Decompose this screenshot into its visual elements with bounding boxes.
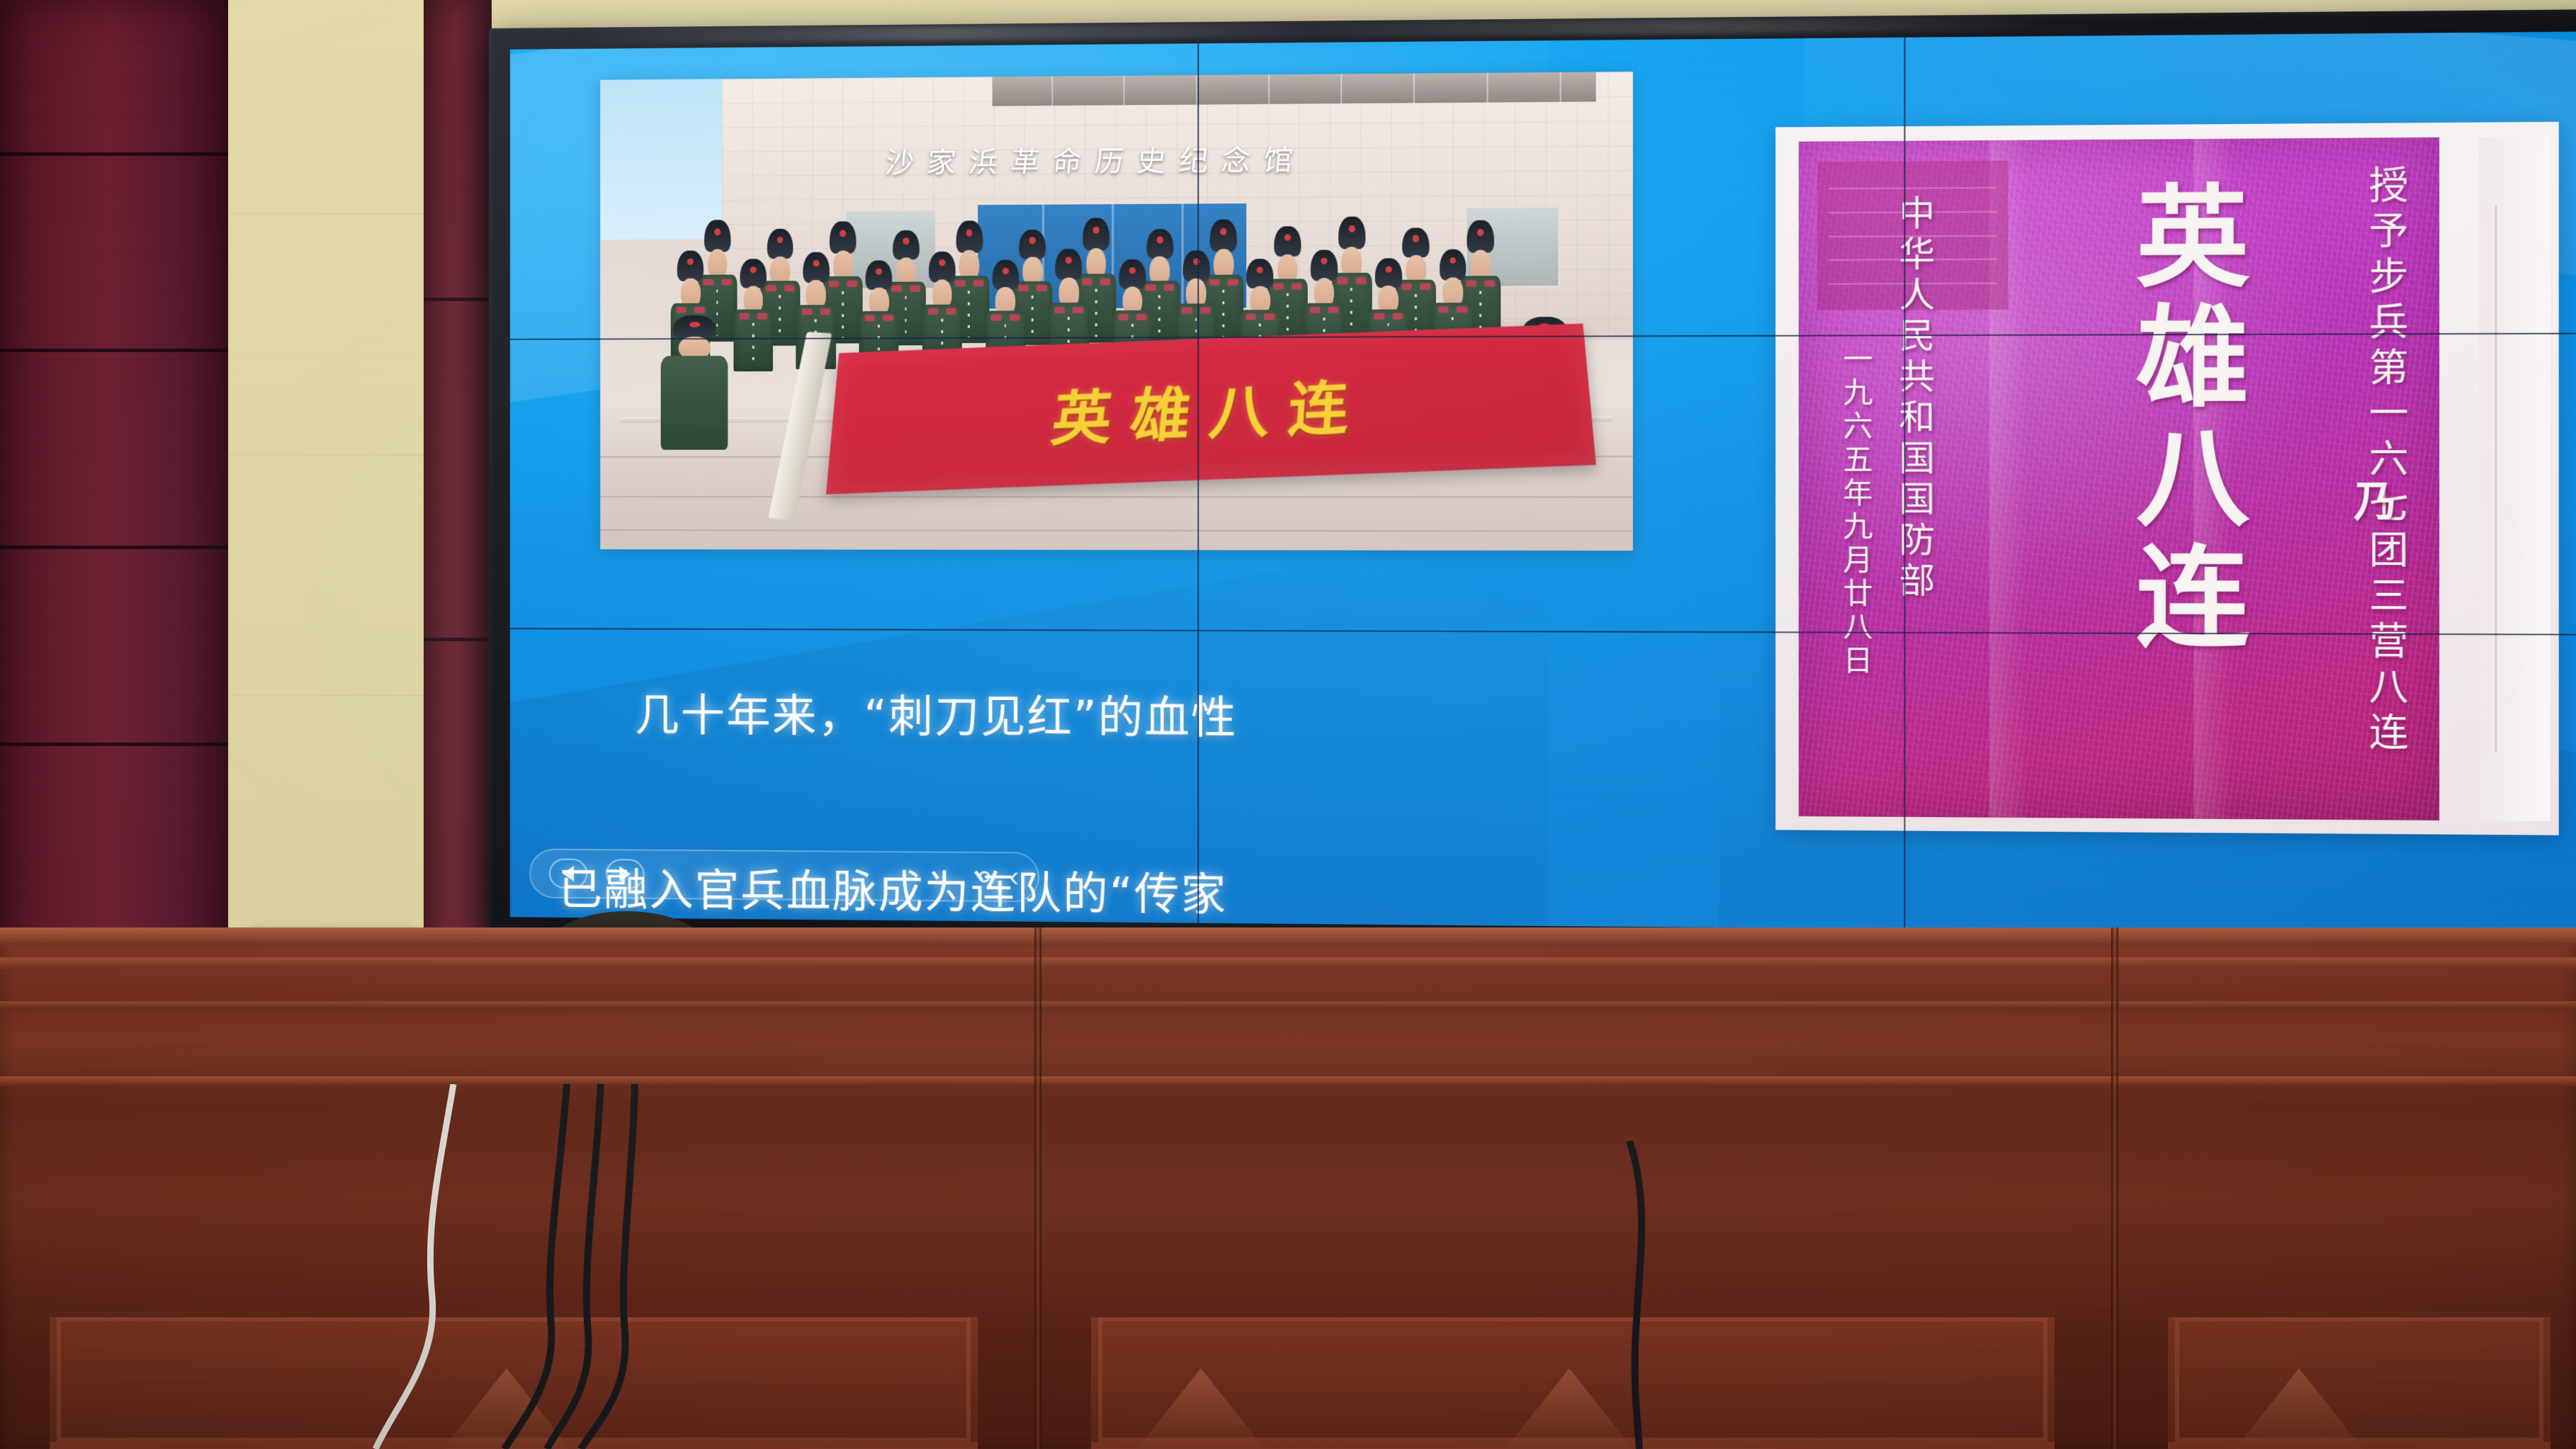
hanging-cables [0,1084,1063,1449]
flag-mount-edge [2479,136,2550,821]
play-triangle-icon[interactable] [606,859,644,889]
building-signage: 沙家浜革命历史纪念馆 SHAJIABANG MEMORIAL OF THE RE… [886,135,1581,196]
red-banner: 英雄八连 [826,323,1596,494]
prev-triangle-icon[interactable] [549,859,587,889]
flag-date: 一九六五年九月廿八日 [1834,344,1877,679]
right-hanging-cable [1544,1141,1970,1449]
lecture-hall-photo: 沙家浜革命历史纪念馆 SHAJIABANG MEMORIAL OF THE RE… [0,0,2576,1449]
flag-signature: 乃 [2340,479,2404,521]
building-sign-cn: 沙家浜革命历史纪念馆 [883,135,1583,181]
flag-right-column-text: 授予步兵第一六七团三营八连 [2356,164,2414,757]
banner-text: 英雄八连 [1047,359,1369,457]
chevron-left-icon[interactable]: ‹ [1009,863,1019,892]
display-screen[interactable]: 沙家浜革命历史纪念馆 SHAJIABANG MEMORIAL OF THE RE… [510,31,2576,935]
caption-line-1: 几十年来，“刺刀见红”的血性 [558,686,1715,750]
video-wall-display[interactable]: 沙家浜革命历史纪念馆 SHAJIABANG MEMORIAL OF THE RE… [489,9,2576,954]
wood-column-left-inner [424,0,492,992]
slide-left-half: 沙家浜革命历史纪念馆 SHAJIABANG MEMORIAL OF THE RE… [510,39,1740,928]
flag-issuer: 中华人民共和国国防部 [1887,195,1940,603]
display-bezel: 沙家浜革命历史纪念馆 SHAJIABANG MEMORIAL OF THE RE… [489,9,2576,954]
flag-main-text: 英雄八连 [2101,179,2265,660]
circle-dot-icon [979,871,990,882]
flag-photo: 英雄八连 授予步兵第一六七团三营八连 乃 中华人民共和国国防部 一九六五年九月廿… [1775,122,2559,835]
playback-control-bar[interactable]: ‹ [529,848,1039,902]
honor-flag: 英雄八连 授予步兵第一六七团三营八连 乃 中华人民共和国国防部 一九六五年九月廿… [1798,137,2439,821]
group-photo: 沙家浜革命历史纪念馆 SHAJIABANG MEMORIAL OF THE RE… [600,72,1633,551]
soldier-kneeling-left [661,315,728,449]
slide-right-half: 英雄八连 授予步兵第一六七团三营八连 乃 中华人民共和国国防部 一九六五年九月廿… [1740,31,2576,935]
